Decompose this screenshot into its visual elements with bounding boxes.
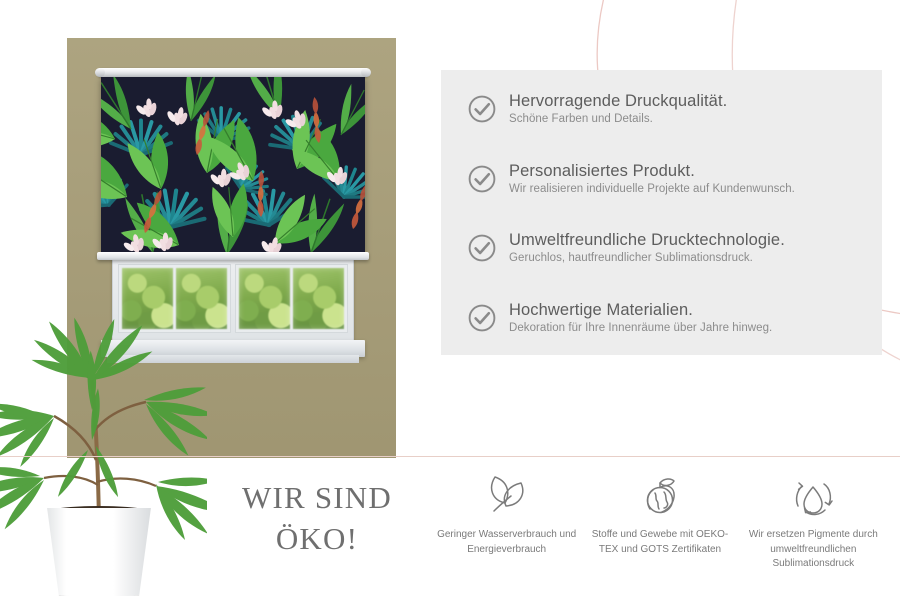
- check-circle-icon: [467, 233, 497, 263]
- features-panel: Hervorragende Druckqualität. Schöne Farb…: [441, 70, 882, 355]
- feature-title: Umweltfreundliche Drucktechnologie.: [509, 231, 785, 249]
- blind-roller-tube: [97, 68, 369, 77]
- feature-title: Personalisiertes Produkt.: [509, 162, 795, 180]
- feature-subtitle: Wir realisieren individuelle Projekte au…: [509, 183, 795, 197]
- blind-bottom-bar[interactable]: [97, 252, 369, 260]
- globe-leaf-icon: [633, 470, 687, 522]
- two-leaves-icon: [480, 470, 534, 522]
- window-pane: [293, 268, 344, 329]
- plant-pot: [40, 508, 158, 596]
- check-circle-icon: [467, 303, 497, 333]
- window-sash-right: [235, 264, 348, 333]
- roller-blind[interactable]: [95, 68, 371, 268]
- eco-heading: WIR SIND ÖKO!: [222, 478, 412, 560]
- feature-subtitle: Dekoration für Ihre Innenräume über Jahr…: [509, 322, 772, 336]
- eco-item-text: Wir ersetzen Pigmente durch umweltfreund…: [738, 528, 888, 572]
- eco-heading-line2: ÖKO!: [222, 519, 412, 560]
- eco-heading-line1: WIR SIND: [222, 478, 412, 519]
- feature-title: Hochwertige Materialien.: [509, 301, 772, 319]
- feature-subtitle: Geruchlos, hautfreundlicher Sublimations…: [509, 252, 785, 266]
- blind-fabric-pattern: [101, 77, 365, 253]
- feature-title: Hervorragende Druckqualität.: [509, 92, 727, 110]
- eco-item-text: Geringer Wasserverbrauch und Energieverb…: [432, 528, 582, 557]
- section-divider: [0, 456, 900, 457]
- potted-plant: [0, 270, 207, 600]
- eco-item: Wir ersetzen Pigmente durch umweltfreund…: [737, 470, 890, 595]
- water-drop-recycle-icon: [786, 470, 840, 522]
- eco-items: Geringer Wasserverbrauch und Energieverb…: [430, 470, 890, 595]
- feature-item: Hervorragende Druckqualität. Schöne Farb…: [467, 92, 727, 127]
- feature-item: Umweltfreundliche Drucktechnologie. Geru…: [467, 231, 785, 266]
- feature-item: Hochwertige Materialien. Dekoration für …: [467, 301, 772, 336]
- check-circle-icon: [467, 94, 497, 124]
- feature-item: Personalisiertes Produkt. Wir realisiere…: [467, 162, 795, 197]
- promo-banner: Hervorragende Druckqualität. Schöne Farb…: [0, 0, 900, 600]
- eco-item-text: Stoffe und Gewebe mit OEKO-TEX und GOTS …: [585, 528, 735, 557]
- eco-item: Stoffe und Gewebe mit OEKO-TEX und GOTS …: [583, 470, 736, 595]
- check-circle-icon: [467, 164, 497, 194]
- window-pane: [239, 268, 290, 329]
- eco-item: Geringer Wasserverbrauch und Energieverb…: [430, 470, 583, 595]
- blind-cap-right: [361, 68, 371, 77]
- blind-cap-left: [95, 68, 105, 77]
- feature-subtitle: Schöne Farben und Details.: [509, 113, 727, 127]
